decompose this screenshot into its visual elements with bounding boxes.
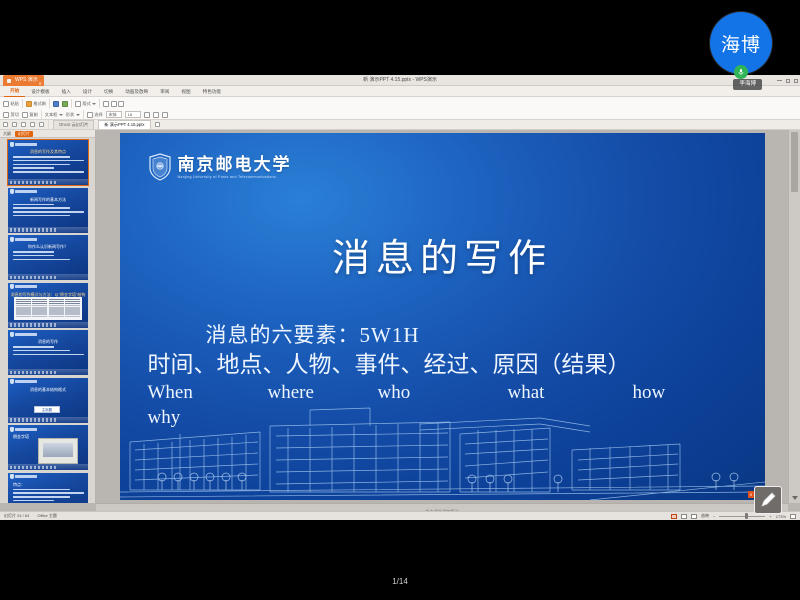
thumbnail-slide-8[interactable]: 8 特点： — [8, 473, 88, 504]
thumbnail-footer-art — [8, 322, 88, 328]
paste-button[interactable]: 粘贴 — [3, 101, 19, 107]
campus-building-line-art — [120, 404, 765, 500]
thumbnail-logo — [10, 332, 37, 337]
thumbnail-title: 特点： — [8, 482, 88, 488]
file-tab-cloud[interactable]: Oncor 云幻灯片 — [53, 120, 94, 129]
thumbnail-body — [13, 251, 84, 262]
format-brush-icon — [26, 101, 32, 107]
slide-sorter-icon[interactable] — [681, 514, 687, 519]
redo-icon[interactable] — [21, 122, 26, 127]
thumbnail-callout-box: 主标题 — [34, 406, 60, 413]
cut-button[interactable]: 剪切 — [3, 112, 19, 118]
zoom-slider[interactable] — [719, 516, 765, 517]
textbox-label: 文本框 — [45, 112, 58, 118]
chevron-down-icon[interactable] — [59, 114, 63, 116]
thumbnail-footer-art — [8, 274, 88, 280]
slide-subtitle: 消息的六要素：5W1H — [148, 321, 753, 349]
thumbnail-slide-7[interactable]: 7 倒金字塔 — [8, 425, 88, 470]
new-slide-icon — [53, 101, 59, 107]
page-indicator: 1/14 — [0, 577, 800, 586]
maximize-icon[interactable] — [786, 79, 790, 83]
thumbnail-title: 新闻写作的基本方法 — [8, 197, 88, 203]
ribbon-tab-view[interactable]: 视图 — [175, 86, 196, 97]
zoom-out-icon[interactable]: − — [713, 514, 715, 519]
thumbnail-logo — [10, 189, 37, 194]
ribbon-tab-insert[interactable]: 插入 — [56, 86, 77, 97]
thumbnail-slide-2[interactable]: 2 新闻写作的基本方法 — [8, 188, 88, 233]
thumbnail-footer-art — [8, 464, 88, 470]
align-center-icon — [111, 101, 117, 107]
font-size-select[interactable]: 18 — [125, 111, 141, 118]
wps-presentation-window: WPS 演示 ✕ 新 演示PPT 4.15.pptx - WPS演示 开始 设计… — [0, 75, 800, 520]
mic-on-icon — [737, 68, 745, 76]
ribbon-body: 粘贴 格式刷 版式 — [0, 97, 800, 120]
slide-count-label: 幻灯片 24 / 64 — [4, 513, 29, 519]
thumbnail-footer-art — [8, 369, 88, 375]
scroll-down-arrow[interactable] — [789, 493, 800, 503]
print-icon[interactable] — [30, 122, 35, 127]
italic-icon — [153, 112, 159, 118]
element-how: how — [633, 380, 666, 406]
layout-icon — [62, 101, 68, 107]
thumbnail-body — [13, 346, 84, 357]
divider — [49, 99, 50, 108]
document-title: 新 演示PPT 4.15.pptx - WPS演示 — [0, 75, 800, 86]
format-brush-button[interactable]: 格式刷 — [26, 101, 46, 107]
bold-icon — [144, 112, 150, 118]
divider — [41, 110, 42, 119]
ribbon-tab-bar: 开始 设计模板 插入 设计 切换 动画及放映 审阅 视图 特色功能 — [0, 86, 800, 97]
thumbnail-slide-6[interactable]: 6 消息的基本结构格式 主标题 — [8, 378, 88, 423]
underline-button[interactable] — [162, 112, 168, 118]
divider — [99, 99, 100, 108]
paste-icon — [3, 101, 9, 107]
ribbon-tab-animation[interactable]: 动画及放映 — [119, 86, 154, 97]
ribbon-tab-design[interactable]: 设计 — [77, 86, 98, 97]
new-icon[interactable] — [39, 122, 44, 127]
zoom-slider-knob[interactable] — [745, 513, 748, 519]
chevron-down-icon[interactable] — [76, 114, 80, 116]
pen-tool-icon — [759, 491, 777, 509]
new-slide-button[interactable] — [53, 101, 59, 107]
thumbnail-panel-header: 大纲 幻灯片 — [0, 130, 95, 138]
reading-view-icon[interactable] — [691, 514, 697, 519]
thumbnail-slide-4[interactable]: 4 消息的写作模式与方法：以"倒金字塔"结构 — [8, 283, 88, 328]
save-icon[interactable] — [3, 122, 8, 127]
thumbnail-footer-art — [8, 417, 88, 423]
university-name-cn: 南京邮电大学 — [178, 156, 292, 173]
select-label: 选择 — [94, 112, 102, 118]
textbox-button[interactable]: 文本框 — [45, 112, 63, 118]
scrollbar-thumb[interactable] — [791, 132, 798, 192]
copy-icon — [22, 112, 28, 118]
align-group[interactable] — [103, 101, 124, 107]
participant-avatar-overlay[interactable]: 海博 — [710, 12, 772, 74]
slide-title[interactable]: 消息的写作 — [120, 227, 765, 282]
thumbnail-title: 你作么认识新闻写作？ — [8, 244, 88, 250]
thumbnail-body — [13, 204, 84, 219]
underline-icon — [162, 112, 168, 118]
thumbnail-title: 消息的写作 — [8, 339, 88, 345]
thumbnail-picture — [38, 438, 78, 464]
bold-button[interactable] — [144, 112, 150, 118]
participant-name-chip: 李海博 — [733, 79, 762, 90]
align-left-icon — [103, 101, 109, 107]
divider — [71, 99, 72, 108]
ribbon-tab-special[interactable]: 特色功能 — [197, 86, 227, 97]
section-label: 版式 — [82, 101, 90, 107]
thumbnail-logo — [10, 474, 37, 479]
screen-recording-stage: WPS 演示 ✕ 新 演示PPT 4.15.pptx - WPS演示 开始 设计… — [0, 0, 800, 600]
align-right-icon — [118, 101, 124, 107]
thumbnail-slide-1[interactable]: 1 消息的写作及其特点 — [8, 140, 88, 185]
cut-icon — [3, 112, 9, 118]
ribbon-tab-start[interactable]: 开始 — [4, 85, 25, 97]
thumbnail-logo — [10, 427, 37, 432]
status-left: 幻灯片 24 / 64 Office 主题 — [4, 513, 57, 519]
window-controls — [777, 75, 798, 86]
slide-thumbnail-panel[interactable]: 大纲 幻灯片 1 消息的写作及其特点 2 新闻写作的基本方法 — [0, 130, 96, 503]
ribbon-row-1: 粘贴 格式刷 版式 — [0, 98, 800, 109]
ribbon-tab-design-template[interactable]: 设计模板 — [25, 86, 55, 97]
normal-view-icon[interactable] — [671, 514, 677, 519]
thumbnail-logo — [10, 237, 37, 242]
university-shield-icon — [148, 153, 172, 181]
thumbnail-slide-3[interactable]: 3 你作么认识新闻写作？ — [8, 235, 88, 280]
slide-canvas-area[interactable]: 南京邮电大学 Nanjing University of Posts and T… — [96, 130, 788, 503]
paste-label: 粘贴 — [11, 101, 19, 107]
element-what: what — [508, 380, 633, 406]
font-name-select[interactable]: 宋体 — [106, 111, 122, 118]
thumbnail-title: 消息的基本结构格式 — [8, 387, 88, 393]
zoom-level-label: 173% — [776, 514, 786, 519]
thumbnail-body — [13, 489, 84, 504]
zoom-in-icon[interactable]: + — [769, 514, 771, 519]
italic-button[interactable] — [153, 112, 159, 118]
thumbnail-footer-art — [8, 227, 88, 233]
window-title-bar: WPS 演示 ✕ 新 演示PPT 4.15.pptx - WPS演示 — [0, 75, 800, 86]
format-brush-label: 格式刷 — [33, 101, 46, 107]
fit-to-window-icon[interactable] — [790, 514, 796, 519]
select-button[interactable]: 选择 — [87, 112, 103, 118]
ribbon-row-2: 剪切 复制 文本框 形状 选择 — [0, 109, 800, 120]
thumbnail-logo — [10, 284, 37, 289]
plus-icon[interactable] — [155, 122, 160, 127]
vertical-scrollbar[interactable] — [788, 130, 800, 503]
current-slide[interactable]: 南京邮电大学 Nanjing University of Posts and T… — [120, 133, 765, 500]
divider — [83, 110, 84, 119]
element-when: When — [148, 380, 268, 406]
floating-pen-tool-button[interactable] — [754, 486, 782, 514]
undo-icon[interactable] — [12, 122, 17, 127]
thumbnail-document-image — [14, 297, 82, 320]
element-where: where — [268, 380, 378, 406]
section-icon — [75, 101, 81, 107]
file-tab-current[interactable]: 新 演示PPT 4.15.pptx — [98, 120, 150, 129]
slides-tab[interactable]: 幻灯片 — [15, 131, 33, 137]
mic-status-badge[interactable] — [734, 65, 748, 79]
section-button[interactable]: 版式 — [75, 101, 96, 107]
divider — [48, 120, 49, 129]
theme-label: Office 主题 — [37, 513, 57, 519]
element-who: who — [378, 380, 508, 406]
quick-access-strip: Oncor 云幻灯片 新 演示PPT 4.15.pptx — [0, 120, 800, 130]
cut-label: 剪切 — [11, 112, 19, 118]
chevron-down-icon[interactable] — [92, 103, 96, 105]
status-bar: 幻灯片 24 / 64 Office 主题 放映 − + 173% — [0, 511, 800, 520]
copy-label: 复制 — [29, 112, 37, 118]
close-icon[interactable] — [794, 79, 798, 83]
shape-label: 形状 — [66, 112, 74, 118]
minimize-icon[interactable] — [777, 80, 782, 81]
thumbnail-title: 消息的写作及其特点 — [8, 149, 88, 155]
thumbnail-footer-art — [8, 179, 88, 185]
slide-elements-cn: 时间、地点、人物、事件、经过、原因（结果） — [148, 349, 753, 380]
ribbon-tab-review[interactable]: 审阅 — [154, 86, 175, 97]
university-name-en: Nanjing University of Posts and Telecomm… — [178, 175, 292, 179]
outline-tab[interactable]: 大纲 — [3, 131, 11, 137]
thumbnail-body — [13, 156, 84, 175]
slide-elements-en: When where who what how — [148, 380, 753, 406]
slideshow-button[interactable]: 放映 — [701, 513, 709, 519]
ribbon-tab-transition[interactable]: 切换 — [98, 86, 119, 97]
divider — [22, 99, 23, 108]
layout-button[interactable] — [62, 101, 68, 107]
thumbnail-logo — [10, 379, 37, 384]
shape-button[interactable]: 形状 — [66, 112, 80, 118]
university-logo: 南京邮电大学 Nanjing University of Posts and T… — [148, 153, 292, 181]
select-icon — [87, 112, 93, 118]
editor-work-area: 大纲 幻灯片 1 消息的写作及其特点 2 新闻写作的基本方法 — [0, 130, 800, 520]
thumbnail-logo — [10, 142, 37, 147]
thumbnail-slide-5[interactable]: 5 消息的写作 — [8, 330, 88, 375]
thumbnail-list[interactable]: 1 消息的写作及其特点 2 新闻写作的基本方法 3 — [0, 138, 95, 503]
copy-button[interactable]: 复制 — [22, 112, 38, 118]
